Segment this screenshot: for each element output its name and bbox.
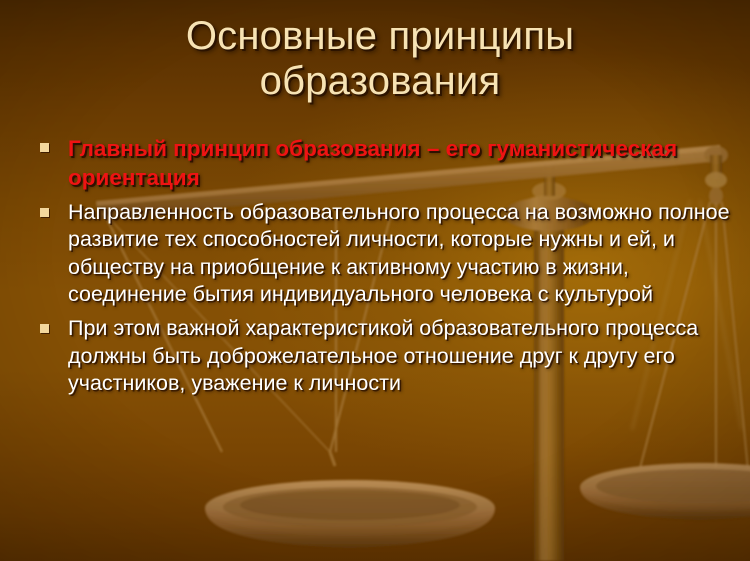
list-item-text: Главный принцип образования – его гумани… xyxy=(68,136,677,190)
slide-content: Основные принципы образования Главный пр… xyxy=(0,0,750,561)
bullet-marker-icon xyxy=(40,324,49,333)
bullet-marker-icon xyxy=(40,208,49,217)
presentation-slide: Основные принципы образования Главный пр… xyxy=(0,0,750,561)
list-item-text: Направленность образовательного процесса… xyxy=(68,200,730,307)
list-item: При этом важной характеристикой образова… xyxy=(26,315,732,398)
page-title: Основные принципы образования xyxy=(60,14,700,104)
bullet-marker-icon xyxy=(40,143,49,152)
bullet-list: Главный принцип образования – его гумани… xyxy=(26,134,732,404)
list-item: Главный принцип образования – его гумани… xyxy=(26,134,732,193)
list-item-text: При этом важной характеристикой образова… xyxy=(68,316,698,395)
list-item: Направленность образовательного процесса… xyxy=(26,199,732,310)
